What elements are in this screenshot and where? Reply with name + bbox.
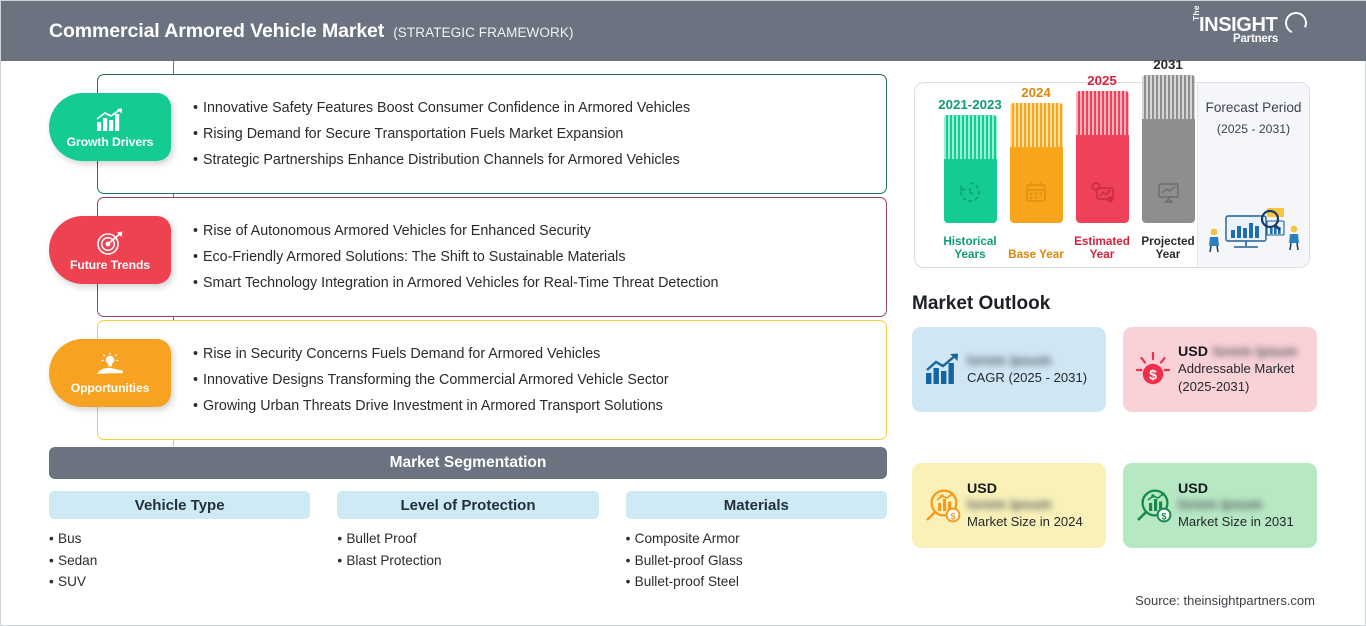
card-currency: USD — [967, 481, 1098, 497]
column-header: Level of Protection — [337, 491, 598, 519]
forecast-timeline-card: 2021-2023 2024 2025 — [914, 82, 1310, 268]
bullet-text: Growing Urban Threats Drive Investment i… — [203, 398, 663, 414]
card-currency: USD — [1178, 481, 1309, 497]
badge-label: Opportunities — [71, 381, 150, 395]
page-subtitle: (STRATEGIC FRAMEWORK) — [393, 25, 573, 40]
item-label: Blast Protection — [346, 553, 441, 568]
badge-growth-drivers[interactable]: Growth Drivers — [49, 93, 171, 161]
card-value-row: lorem ipsum — [1178, 497, 1309, 513]
item-label: Bullet-proof Glass — [635, 553, 743, 568]
svg-text:$: $ — [1161, 511, 1166, 521]
list-item: •Rise in Security Concerns Fuels Demand … — [193, 346, 669, 362]
card-value-redacted: lorem ipsum — [967, 497, 1051, 513]
card-value-redacted: lorem ipsum — [1178, 497, 1262, 513]
source-attribution: Source: theinsightpartners.com — [1135, 593, 1315, 608]
bar-stripe-top — [1142, 75, 1195, 119]
list-item: •Smart Technology Integration in Armored… — [193, 275, 718, 291]
list-item: •Rise of Autonomous Armored Vehicles for… — [193, 223, 718, 239]
outlook-card-market-size-2031[interactable]: $ USD lorem ipsum Market Size in 2031 — [1123, 463, 1317, 548]
forecast-period-panel: Forecast Period (2025 - 2031) — [1197, 83, 1309, 267]
bar-shape — [1142, 75, 1195, 223]
column-header: Vehicle Type — [49, 491, 310, 519]
bar-shape — [1076, 91, 1129, 223]
market-segmentation-title: Market Segmentation — [49, 447, 887, 479]
analytics-gear-icon — [1089, 180, 1115, 209]
card-value-row: lorem ipsum — [967, 497, 1098, 513]
forecast-bar-projected: 2031 — [1140, 57, 1196, 223]
list-item: •Bullet-proof Steel — [626, 574, 887, 589]
list-item: •Bus — [49, 531, 310, 546]
forecast-period-label: Forecast Period — [1198, 100, 1309, 116]
badge-opportunities[interactable]: Opportunities — [49, 339, 171, 407]
magnifier-chart-icon: $ — [1131, 487, 1175, 525]
outlook-card-market-size-2024[interactable]: $ USD lorem ipsum Market Size in 2024 — [912, 463, 1106, 548]
list-item: •Growing Urban Threats Drive Investment … — [193, 398, 669, 414]
card-value-row: USD lorem ipsum — [1178, 344, 1309, 360]
item-label: Bullet-proof Steel — [635, 574, 739, 589]
outlook-card-cagr[interactable]: lorem ipsum CAGR (2025 - 2031) — [912, 327, 1106, 412]
segmentation-column-materials: Materials •Composite Armor •Bullet-proof… — [626, 491, 887, 589]
list-item: •SUV — [49, 574, 310, 589]
bar-chart-growth-icon — [95, 106, 125, 134]
list-item: •Innovative Designs Transforming the Com… — [193, 372, 669, 388]
infographic-page: Commercial Armored Vehicle Market (STRAT… — [0, 0, 1366, 626]
bar-year-label: 2024 — [1021, 85, 1051, 100]
bullet-text: Innovative Safety Features Boost Consume… — [203, 100, 690, 116]
analytics-dashboard-illustration — [1204, 202, 1304, 259]
bullet-text: Rise in Security Concerns Fuels Demand f… — [203, 346, 600, 362]
page-title: Commercial Armored Vehicle Market — [49, 20, 384, 43]
card-text: USD lorem ipsum Market Size in 2031 — [1175, 481, 1309, 531]
svg-text:$: $ — [1149, 366, 1157, 382]
bar-stripe-top — [1076, 91, 1129, 135]
bar-caption: Estimated Year — [1066, 235, 1138, 261]
target-arrow-icon — [95, 229, 125, 257]
bar-stripe-top — [1010, 103, 1063, 147]
panel-opportunities: •Rise in Security Concerns Fuels Demand … — [97, 320, 887, 440]
segmentation-column-level-of-protection: Level of Protection •Bullet Proof •Blast… — [337, 491, 598, 589]
list-item: •Blast Protection — [337, 553, 598, 568]
bar-stripe-top — [944, 115, 997, 159]
card-label: CAGR (2025 - 2031) — [967, 370, 1087, 385]
page-header: Commercial Armored Vehicle Market (STRAT… — [1, 1, 1366, 61]
card-value-row: lorem ipsum — [967, 353, 1098, 369]
insight-partners-logo: The INSIGHT Partners — [1189, 12, 1309, 52]
card-text: USD lorem ipsum Addressable Market (2025… — [1175, 344, 1309, 396]
item-label: Bus — [58, 531, 81, 546]
bullet-text: Smart Technology Integration in Armored … — [203, 275, 718, 291]
bullet-text: Innovative Designs Transforming the Comm… — [203, 372, 669, 388]
bar-caption: Historical Years — [934, 235, 1006, 261]
list-item: •Eco-Friendly Armored Solutions: The Shi… — [193, 249, 718, 265]
circle-swoosh-icon — [1282, 9, 1310, 37]
card-currency: USD — [1178, 344, 1208, 360]
bar-year-label: 2031 — [1153, 57, 1183, 72]
bullet-text: Eco-Friendly Armored Solutions: The Shif… — [203, 249, 626, 265]
connector-line — [173, 440, 174, 446]
card-text: lorem ipsum CAGR (2025 - 2031) — [964, 353, 1098, 387]
list-item: •Sedan — [49, 553, 310, 568]
segmentation-column-vehicle-type: Vehicle Type •Bus •Sedan •SUV — [49, 491, 310, 589]
badge-future-trends[interactable]: Future Trends — [49, 216, 171, 284]
list-item: •Innovative Safety Features Boost Consum… — [193, 100, 690, 116]
bullet-text: Rising Demand for Secure Transportation … — [203, 126, 623, 142]
magnifier-chart-icon: $ — [920, 487, 964, 525]
list-item: •Rising Demand for Secure Transportation… — [193, 126, 690, 142]
left-column: •Innovative Safety Features Boost Consum… — [1, 61, 901, 626]
bar-shape — [1010, 103, 1063, 223]
dollar-bulb-icon: $ — [1131, 351, 1175, 389]
badge-label: Future Trends — [70, 258, 150, 272]
column-items: •Bullet Proof •Blast Protection — [337, 531, 598, 568]
header-title-wrap: Commercial Armored Vehicle Market (STRAT… — [49, 20, 574, 43]
forecast-period-range: (2025 - 2031) — [1198, 122, 1309, 136]
bullet-list: •Innovative Safety Features Boost Consum… — [193, 75, 702, 193]
badge-label: Growth Drivers — [67, 135, 154, 149]
clock-history-icon — [958, 180, 982, 209]
card-text: USD lorem ipsum Market Size in 2024 — [964, 481, 1098, 531]
card-label: Addressable Market (2025-2031) — [1178, 361, 1294, 394]
bar-year-label: 2021-2023 — [938, 97, 1002, 112]
svg-text:$: $ — [950, 511, 955, 521]
bar-shape — [944, 115, 997, 223]
list-item: •Bullet-proof Glass — [626, 553, 887, 568]
bullet-list: •Rise in Security Concerns Fuels Demand … — [193, 321, 681, 439]
market-segmentation-columns: Vehicle Type •Bus •Sedan •SUV Level of P… — [49, 491, 887, 589]
bullet-text: Rise of Autonomous Armored Vehicles for … — [203, 223, 591, 239]
column-header: Materials — [626, 491, 887, 519]
forecast-bar-estimated: 2025 — [1074, 73, 1130, 223]
item-label: Sedan — [58, 553, 97, 568]
forecast-bar-historical: 2021-2023 — [942, 97, 998, 223]
lightbulb-in-hand-icon — [94, 352, 126, 380]
bar-year-label: 2025 — [1087, 73, 1117, 88]
connector-line — [173, 61, 174, 75]
bullet-list: •Rise of Autonomous Armored Vehicles for… — [193, 198, 730, 316]
bar-caption: Base Year — [1000, 248, 1072, 261]
logo-partners-text: Partners — [1233, 33, 1278, 45]
bullet-text: Strategic Partnerships Enhance Distribut… — [203, 152, 680, 168]
presentation-chart-icon — [1156, 180, 1181, 209]
market-outlook-title: Market Outlook — [912, 293, 1050, 315]
forecast-bars: 2021-2023 2024 2025 — [925, 83, 1183, 267]
card-value-redacted: lorem ipsum — [1213, 344, 1297, 360]
column-items: •Bus •Sedan •SUV — [49, 531, 310, 589]
column-items: •Composite Armor •Bullet-proof Glass •Bu… — [626, 531, 887, 589]
list-item: •Strategic Partnerships Enhance Distribu… — [193, 152, 690, 168]
panel-growth-drivers: •Innovative Safety Features Boost Consum… — [97, 74, 887, 194]
card-label: Market Size in 2031 — [1178, 514, 1294, 529]
list-item: •Bullet Proof — [337, 531, 598, 546]
list-item: •Composite Armor — [626, 531, 887, 546]
forecast-bar-base: 2024 — [1008, 85, 1064, 223]
calendar-icon — [1024, 180, 1048, 209]
item-label: SUV — [58, 574, 86, 589]
item-label: Composite Armor — [635, 531, 740, 546]
item-label: Bullet Proof — [346, 531, 416, 546]
card-label: Market Size in 2024 — [967, 514, 1083, 529]
panel-future-trends: •Rise of Autonomous Armored Vehicles for… — [97, 197, 887, 317]
card-value-redacted: lorem ipsum — [967, 353, 1051, 369]
bar-caption: Projected Year — [1132, 235, 1204, 261]
outlook-card-addressable-market[interactable]: $ USD lorem ipsum Addressable Market (20… — [1123, 327, 1317, 412]
bar-chart-arrow-icon — [920, 353, 964, 387]
